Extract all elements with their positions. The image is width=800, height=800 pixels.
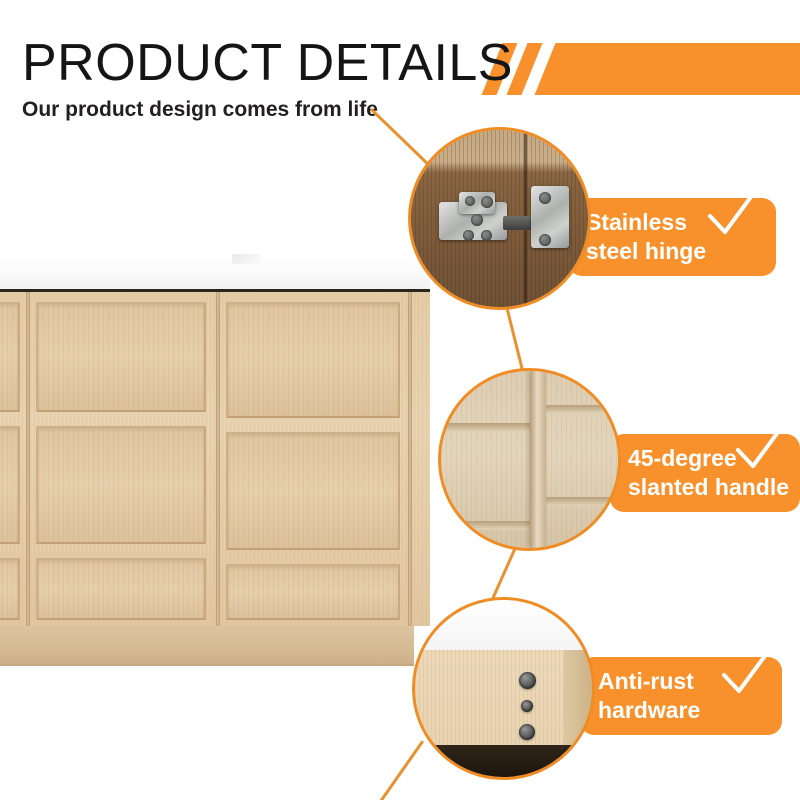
hinge-screw	[539, 192, 551, 204]
callout-stainless-steel-hinge: Stainless steel hinge	[568, 198, 776, 276]
callout-label: Anti-rust hardware	[580, 667, 700, 725]
callout-anti-rust-hardware: Anti-rust hardware	[580, 657, 782, 735]
handle-photo-inner	[441, 371, 618, 548]
toe-kick-shadow	[415, 745, 592, 777]
drawer-panel	[226, 564, 400, 620]
drawer-panel	[0, 426, 20, 544]
hinge-adjust-screw	[471, 214, 483, 226]
drawer-panel	[226, 432, 400, 550]
hinge-screw	[539, 234, 551, 246]
detail-photo-stainless-steel-hinge	[408, 127, 591, 310]
hinge-screw	[481, 196, 493, 208]
page-title: PRODUCT DETAILS	[22, 36, 513, 90]
anti-rust-screw	[519, 724, 535, 740]
cabinet-column-divider	[26, 292, 30, 626]
drawer-panel	[0, 558, 20, 620]
detail-photo-anti-rust-hardware	[412, 597, 595, 780]
drawer-panel	[0, 302, 20, 412]
callout-label: 45-degree slanted handle	[610, 444, 789, 502]
cabinet-column-divider	[216, 292, 220, 626]
page-subtitle: Our product design comes from life	[22, 97, 378, 123]
vertical-handle-groove	[530, 371, 546, 548]
drawer-panel	[36, 426, 206, 544]
hinge-photo-inner	[411, 130, 588, 307]
callout-45-degree-slanted-handle: 45-degree slanted handle	[610, 434, 800, 512]
detail-photo-45-degree-slanted-handle	[438, 368, 621, 551]
anti-rust-screw	[521, 700, 533, 712]
countertop	[0, 248, 430, 292]
hinge-screw	[465, 196, 475, 206]
horizontal-groove	[441, 423, 533, 432]
anti-rust-screw	[519, 672, 536, 689]
cabinet-edge-strip	[564, 650, 592, 760]
horizontal-groove	[541, 497, 621, 506]
horizontal-groove	[541, 405, 621, 414]
drawer-panel	[36, 302, 206, 412]
banner-stripe-thick	[534, 43, 800, 95]
cabinet-side-panel	[415, 650, 567, 753]
drawer-panel	[226, 302, 400, 418]
product-details-infographic: PRODUCT DETAILS Our product design comes…	[0, 0, 800, 800]
hardware-photo-inner	[415, 600, 592, 777]
cabinet-right-edge	[408, 292, 412, 626]
product-photo	[0, 248, 430, 668]
toe-kick	[0, 626, 414, 666]
hinge-screw	[463, 230, 474, 241]
drawer-panel	[36, 558, 206, 620]
hinge-screw	[481, 230, 492, 241]
horizontal-groove	[441, 521, 533, 530]
countertop-edge	[415, 600, 592, 653]
